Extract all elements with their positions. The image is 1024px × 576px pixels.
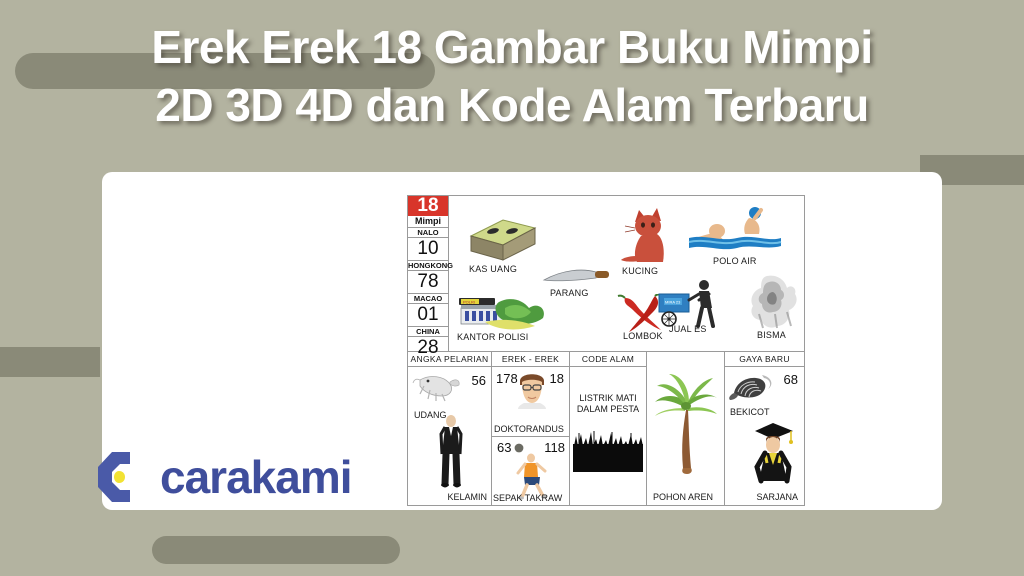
cell-udang-kelamin: 56 UDANG KELAMIN — [408, 367, 491, 505]
page-title-line-1: Erek Erek 18 Gambar Buku Mimpi — [0, 18, 1024, 76]
picture-label-lombok: LOMBOK — [623, 331, 663, 341]
shrimp-icon — [412, 372, 460, 406]
code-alam-line-1: LISTRIK MATI — [570, 393, 646, 404]
number-doktorandus-left: 178 — [496, 371, 518, 386]
market-label-hongkong: HONGKONG — [408, 261, 448, 271]
svg-text:POLRI: POLRI — [463, 300, 475, 305]
main-number: 18 — [408, 196, 448, 216]
picture-label-kucing: KUCING — [622, 266, 658, 276]
blackout-crowd-icon — [573, 430, 643, 472]
table-top-region: 18 Mimpi NALO 10 HONGKONG 78 MACAO 01 CH… — [408, 196, 804, 352]
column-code-alam: CODE ALAM LISTRIK MATI DALAM PESTA — [570, 352, 647, 505]
cell-pohon-aren: POHON AREN — [647, 366, 724, 505]
number-doktorandus-right: 18 — [550, 371, 564, 386]
water-polo-icon — [687, 204, 783, 256]
label-kelamin: KELAMIN — [447, 492, 487, 502]
picture-label-kantor-polisi: KANTOR POLISI — [457, 332, 528, 342]
column-erek-erek: EREK - EREK 178 18 DOKTORANDUS 63 118 — [492, 352, 570, 505]
picture-label-bisma: BISMA — [757, 330, 786, 340]
snail-icon — [728, 373, 774, 403]
machete-icon — [542, 268, 612, 286]
market-value-nalo: 10 — [408, 238, 448, 261]
column-header-code-alam: CODE ALAM — [570, 352, 646, 367]
column-header-gaya-baru: GAYA BARU — [725, 352, 804, 367]
column-header-blank — [647, 352, 724, 366]
svg-text:MIRA 23: MIRA 23 — [665, 300, 681, 305]
sepak-takraw-ball-icon — [514, 443, 524, 453]
carakami-logo-text: carakami — [160, 454, 352, 500]
picture-label-kas-uang: KAS UANG — [469, 264, 517, 274]
market-label-china: CHINA — [408, 327, 448, 337]
picture-label-jual-es: JUAL ES — [669, 324, 707, 334]
man-suit-icon — [436, 414, 466, 488]
market-value-hongkong: 78 — [408, 271, 448, 294]
page-title: Erek Erek 18 Gambar Buku Mimpi 2D 3D 4D … — [0, 18, 1024, 135]
market-value-macao: 01 — [408, 304, 448, 327]
column-header-angka-pelarian: ANGKA PELARIAN — [408, 352, 491, 367]
bisma-icon — [747, 274, 801, 330]
column-header-erek-erek: EREK - EREK — [492, 352, 569, 367]
column-angka-pelarian: ANGKA PELARIAN 56 UDANG — [408, 352, 492, 505]
erek-erek-table: 18 Mimpi NALO 10 HONGKONG 78 MACAO 01 CH… — [407, 195, 805, 506]
police-station-icon: POLRI — [455, 292, 551, 334]
code-alam-line-2: DALAM PESTA — [570, 404, 646, 415]
picture-label-parang: PARANG — [550, 288, 589, 298]
cell-bekicot-sarjana: 68 BEKICOT SARJANA — [725, 367, 804, 505]
palm-tree-icon — [653, 372, 719, 476]
page-title-line-2: 2D 3D 4D dan Kode Alam Terbaru — [0, 76, 1024, 134]
label-pohon-aren: POHON AREN — [653, 492, 713, 502]
label-sarjana: SARJANA — [756, 492, 798, 502]
cell-sepak-takraw: 63 118 SEPAK TAKRAW — [492, 437, 569, 506]
top-picture-area: KAS UANG PARANG POLRI KANTOR POLISI — [449, 196, 804, 351]
number-udang: 56 — [472, 373, 486, 388]
picture-label-polo-air: POLO AIR — [713, 256, 757, 266]
cell-doktorandus: 178 18 DOKTORANDUS — [492, 367, 569, 437]
label-sepak-takraw: SEPAK TAKRAW — [493, 493, 562, 503]
number-sepak-takraw-left: 63 — [497, 440, 511, 455]
table-bottom-region: ANGKA PELARIAN 56 UDANG — [408, 352, 804, 505]
market-label-macao: MACAO — [408, 294, 448, 304]
money-box-icon — [463, 218, 539, 262]
graduate-woman-icon — [747, 419, 799, 485]
market-label-nalo: NALO — [408, 228, 448, 238]
graduate-face-icon — [516, 369, 548, 409]
carakami-logo-mark — [92, 448, 150, 506]
site-logo[interactable]: carakami — [92, 448, 352, 506]
cell-code-alam: LISTRIK MATI DALAM PESTA — [570, 367, 646, 505]
number-bekicot: 68 — [784, 372, 798, 387]
number-column: 18 Mimpi NALO 10 HONGKONG 78 MACAO 01 CH… — [408, 196, 449, 351]
column-pohon-aren: POHON AREN — [647, 352, 725, 505]
decorative-bar-bottom — [152, 536, 400, 564]
label-doktorandus: DOKTORANDUS — [494, 424, 564, 434]
column-gaya-baru: GAYA BARU 68 BEKICOT — [725, 352, 804, 505]
main-number-label: Mimpi — [408, 216, 448, 228]
ice-seller-icon: MIRA 23 — [657, 278, 725, 330]
label-bekicot: BEKICOT — [730, 407, 770, 417]
cat-icon — [619, 204, 671, 268]
decorative-bar-left — [0, 347, 100, 377]
